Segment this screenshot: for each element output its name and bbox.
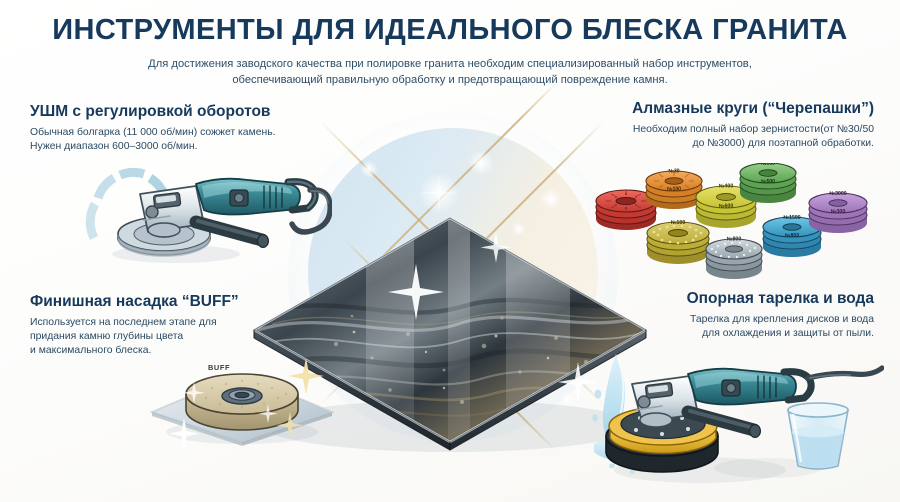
page-subtitle: Для достижения заводского качества при п… [110, 57, 790, 88]
page-subtitle-line2: обеспечивающий правильную обработку и пр… [232, 74, 667, 86]
green-disc-side-label: №500 [761, 179, 775, 185]
purple-disc: №3000 №300 [809, 191, 867, 233]
gray-disc: №800 [706, 237, 762, 279]
buff-pad-label: BUFF [208, 363, 230, 372]
orange-disc: №30 №100 [646, 169, 702, 209]
section-top-right-body: Необходим полный набор зернистости(от №3… [632, 123, 874, 151]
diamond-discs-svg: №30 №100 №400 №600 [592, 163, 884, 288]
angle-grinder-illustration [92, 150, 332, 270]
section-top-left-body: Обычная болгарка (11 000 об/мин) сожжет … [30, 126, 276, 154]
section-top-right: Алмазные круги (“Черепашки”) Необходим п… [632, 100, 874, 151]
section-bottom-left-body-line2: придания камню глубины цвета [30, 330, 239, 344]
blue-disc-top-label: №1500 [783, 215, 800, 221]
yellow-disc-top-label: №400 [719, 184, 734, 190]
sparkle-icon [468, 150, 494, 176]
page-title: ИНСТРУМЕНТЫ ДЛЯ ИДЕАЛЬНОГО БЛЕСКА ГРАНИТ… [0, 14, 900, 47]
section-bottom-left-title: Финишная насадка “BUFF” [30, 293, 239, 311]
section-top-right-body-line2: до №3000) для поэтапной обработки. [632, 137, 874, 151]
section-bottom-left-body: Используется на последнем этапе для прид… [30, 316, 239, 358]
blue-disc-side-label: №800 [785, 233, 800, 239]
sparkle-icon [540, 188, 562, 210]
orange-disc-top-label: №30 [668, 169, 679, 175]
section-bottom-right-title: Опорная тарелка и вода [687, 290, 874, 308]
gold-disc-top-label: №100 [671, 220, 686, 226]
section-top-left-body-line1: Обычная болгарка (11 000 об/мин) сожжет … [30, 126, 276, 140]
gray-disc-top-label: №800 [727, 237, 742, 243]
sparkle-icon [418, 172, 460, 214]
section-bottom-right-body: Тарелка для крепления дисков и вода для … [687, 313, 874, 341]
section-top-right-body-line1: Необходим полный набор зернистости(от №3… [632, 123, 874, 137]
sparkle-icon [360, 160, 378, 178]
purple-disc-top-label: №3000 [829, 191, 846, 197]
grinder-water-illustration [592, 348, 884, 500]
section-bottom-left-body-line3: и максимального блеска. [30, 344, 239, 358]
green-disc-top-label: №000 [761, 163, 775, 167]
yellow-disc-side-label: №600 [719, 204, 734, 210]
gold-disc: №100 [647, 220, 709, 264]
section-bottom-right-body-line2: для охлаждения и защиты от пыли. [687, 327, 874, 341]
section-top-left-title: УШМ с регулировкой оборотов [30, 103, 276, 121]
section-bottom-left: Финишная насадка “BUFF” Используется на … [30, 293, 239, 358]
purple-disc-side-label: №300 [831, 209, 846, 215]
section-bottom-right-body-line1: Тарелка для крепления дисков и вода [687, 313, 874, 327]
water-cup-icon [788, 403, 848, 469]
section-top-right-title: Алмазные круги (“Черепашки”) [632, 100, 874, 118]
page-subtitle-line1: Для достижения заводского качества при п… [148, 58, 752, 70]
section-bottom-left-body-line1: Используется на последнем этапе для [30, 316, 239, 330]
section-top-left-body-line2: Нужен диапазон 600–3000 об/мин. [30, 140, 276, 154]
diamond-discs-group: №30 №100 №400 №600 [592, 163, 884, 288]
section-top-left: УШМ с регулировкой оборотов Обычная болг… [30, 103, 276, 154]
infographic-poster: ИНСТРУМЕНТЫ ДЛЯ ИДЕАЛЬНОГО БЛЕСКА ГРАНИТ… [0, 0, 900, 502]
green-disc: №000 №500 [740, 163, 796, 203]
section-bottom-right: Опорная тарелка и вода Тарелка для крепл… [687, 290, 874, 341]
orange-disc-side-label: №100 [667, 187, 681, 193]
